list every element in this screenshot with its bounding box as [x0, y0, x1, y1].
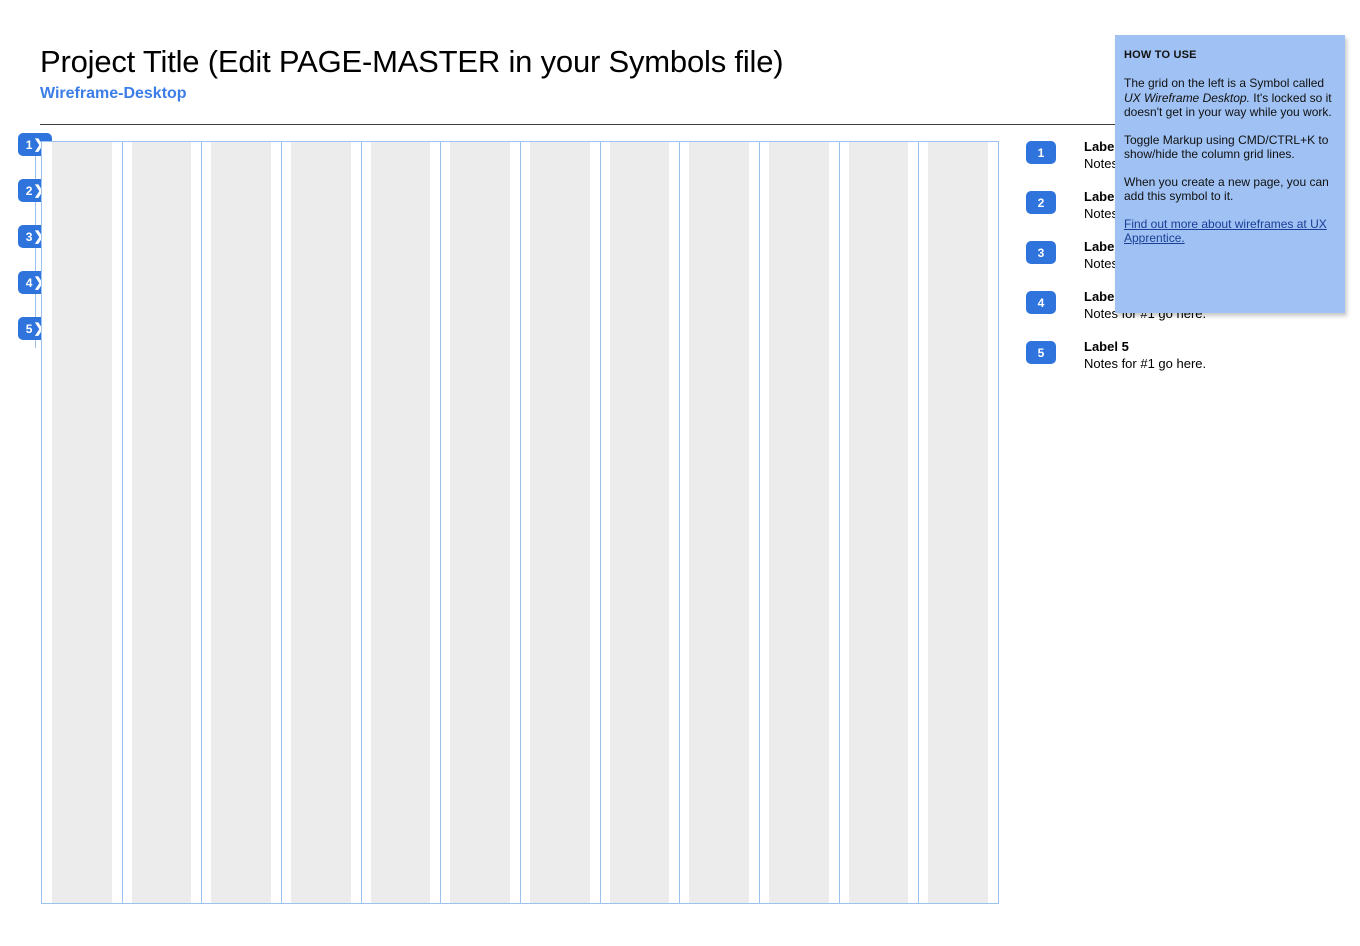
- how-to-use-link-wrap: Find out more about wireframes at UX App…: [1124, 217, 1335, 246]
- page-header: Project Title (Edit PAGE-MASTER in your …: [40, 42, 1116, 105]
- grid-gutter-line: [520, 142, 521, 903]
- wireframe-column-grid: [41, 141, 999, 904]
- grid-column: [291, 142, 351, 903]
- annotation-note: Notes for #1 go here.: [1084, 355, 1324, 372]
- grid-column: [769, 142, 829, 903]
- grid-gutter-line: [600, 142, 601, 903]
- page-subtitle: Wireframe-Desktop: [40, 83, 1116, 105]
- grid-column: [211, 142, 271, 903]
- annotation-label: Label 5: [1084, 338, 1324, 355]
- grid-column: [610, 142, 670, 903]
- how-to-use-panel: HOW TO USE The grid on the left is a Sym…: [1115, 35, 1345, 313]
- grid-gutter-line: [361, 142, 362, 903]
- step-rail-badge-number: 4: [26, 277, 33, 289]
- grid-gutter-line: [281, 142, 282, 903]
- grid-column: [928, 142, 988, 903]
- annotation-badge: 5: [1026, 341, 1056, 364]
- howto-symbol-name: UX Wireframe Desktop.: [1124, 91, 1250, 105]
- annotation-text: Label 5 Notes for #1 go here.: [1084, 338, 1324, 372]
- grid-column: [371, 142, 431, 903]
- how-to-use-title: HOW TO USE: [1124, 48, 1335, 63]
- grid-gutter-line: [759, 142, 760, 903]
- grid-column: [450, 142, 510, 903]
- grid-gutter-line: [440, 142, 441, 903]
- step-rail-badge-number: 3: [26, 231, 33, 243]
- how-to-use-paragraph-3: When you create a new page, you can add …: [1124, 175, 1335, 204]
- wireframe-page: Project Title (Edit PAGE-MASTER in your …: [0, 0, 1360, 946]
- header-divider: [40, 124, 1116, 125]
- how-to-use-paragraph-1: The grid on the left is a Symbol called …: [1124, 76, 1335, 120]
- page-title: Project Title (Edit PAGE-MASTER in your …: [40, 42, 1116, 82]
- annotation-badge: 1: [1026, 141, 1056, 164]
- grid-gutter-line: [201, 142, 202, 903]
- step-rail-badge-number: 1: [26, 139, 33, 151]
- grid-column: [689, 142, 749, 903]
- annotation-badge: 3: [1026, 241, 1056, 264]
- grid-gutter-line: [918, 142, 919, 903]
- grid-gutter-line: [839, 142, 840, 903]
- how-to-use-paragraph-2: Toggle Markup using CMD/CTRL+K to show/h…: [1124, 133, 1335, 162]
- annotation-badge: 4: [1026, 291, 1056, 314]
- ux-apprentice-link[interactable]: Find out more about wireframes at UX App…: [1124, 217, 1335, 246]
- grid-gutter-line: [122, 142, 123, 903]
- grid-column: [530, 142, 590, 903]
- annotation-row[interactable]: 5 Label 5 Notes for #1 go here.: [1026, 338, 1326, 388]
- grid-column: [849, 142, 909, 903]
- grid-column: [52, 142, 112, 903]
- step-rail-badge-number: 2: [26, 185, 33, 197]
- step-rail-badge-number: 5: [26, 323, 33, 335]
- howto-p1-part-a: The grid on the left is a Symbol called: [1124, 76, 1324, 90]
- grid-column: [132, 142, 192, 903]
- annotation-badge: 2: [1026, 191, 1056, 214]
- grid-gutter-line: [679, 142, 680, 903]
